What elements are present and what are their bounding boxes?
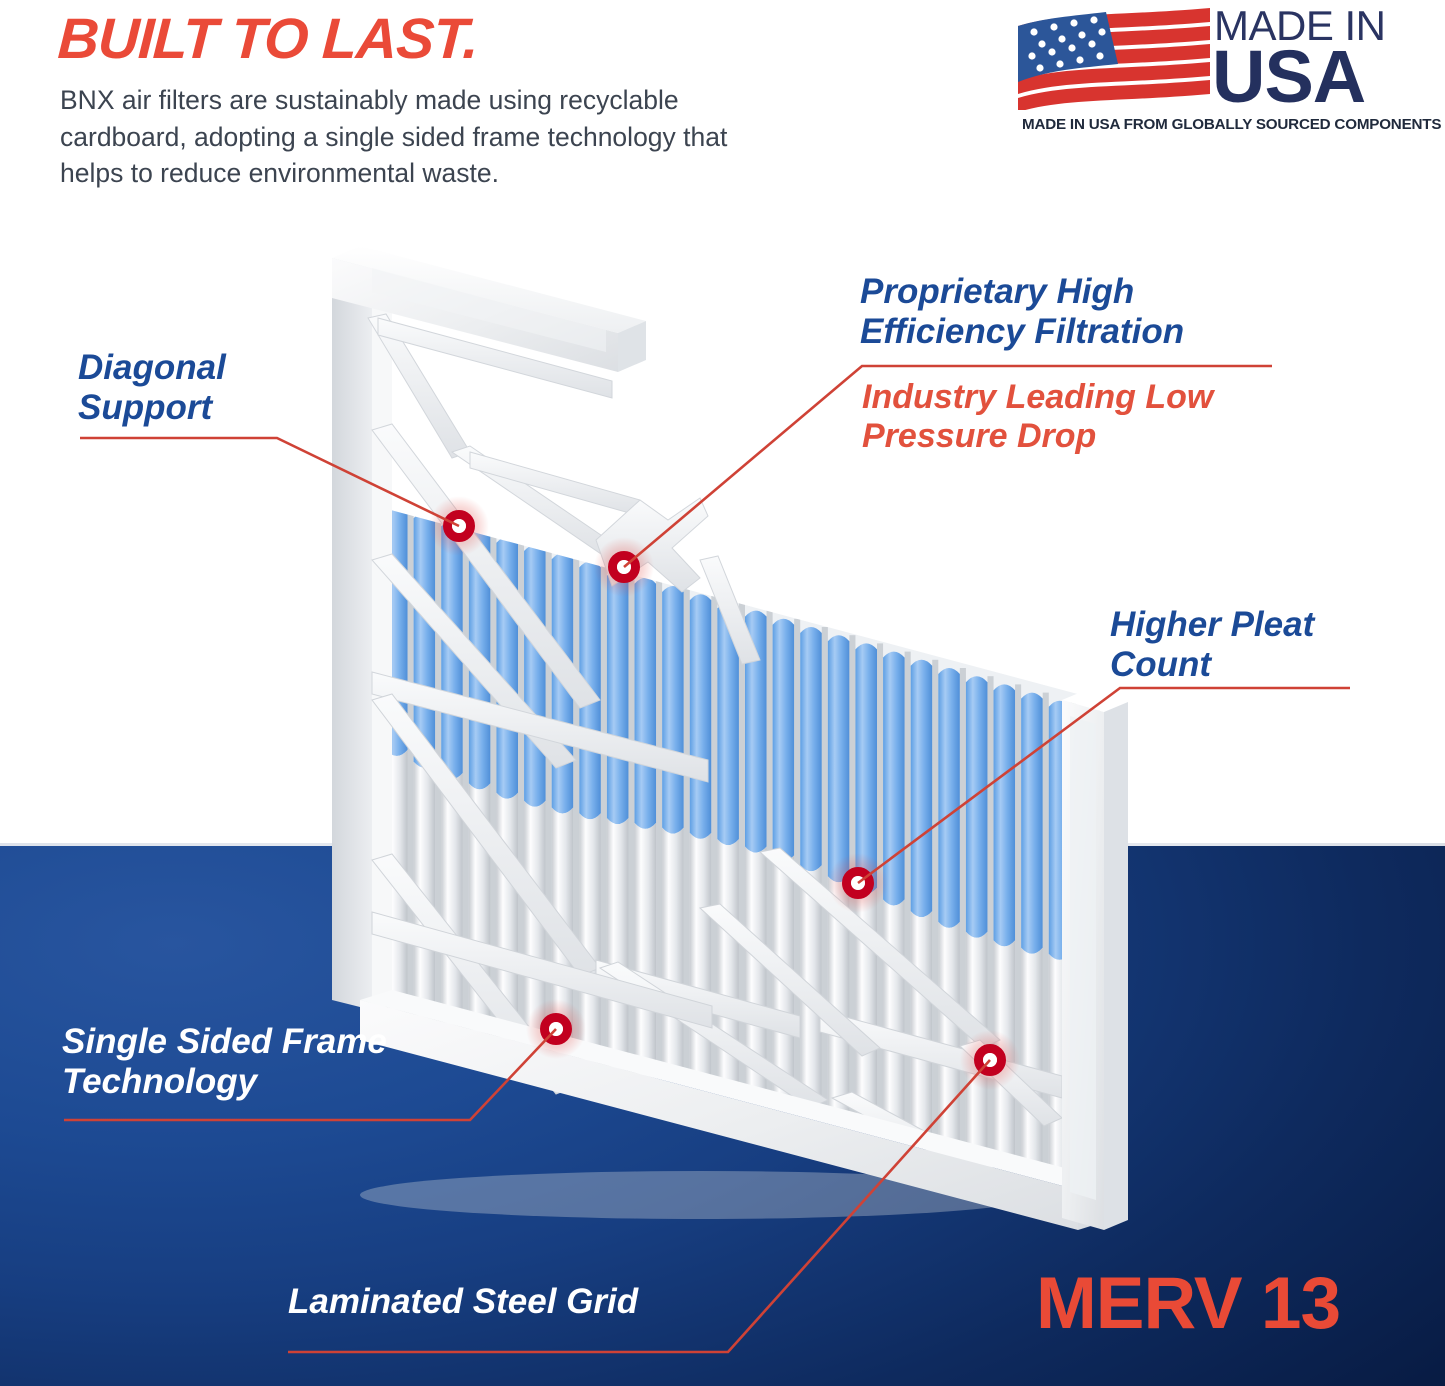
callout-diagonal-support: Diagonal Support [78, 348, 226, 428]
pleat-valley [739, 602, 745, 1104]
callout-line-2: Efficiency Filtration [860, 312, 1184, 352]
made-in-usa-badge: MADE IN USA MADE IN USA FROM GLOBALLY SO… [1014, 4, 1434, 136]
pleat-blue-tip [911, 660, 933, 917]
callout-line-1: Industry Leading Low [862, 378, 1213, 417]
pleat-white-body [607, 818, 629, 1078]
pleat-white-body [938, 922, 960, 1161]
callout-higher-pleat-count: Higher Pleat Count [1110, 605, 1314, 685]
badge-usa-text: USA [1212, 40, 1365, 114]
callout-line-1: Proprietary High [860, 272, 1184, 312]
marker-proprietary-core [617, 560, 631, 574]
pleat-blue-tip [607, 570, 629, 825]
pleat-valley [987, 676, 993, 1166]
pleat-blue-tip [1021, 693, 1043, 954]
pleat-blue-tip [662, 586, 684, 834]
badge-disclaimer: MADE IN USA FROM GLOBALLY SOURCED COMPON… [1022, 116, 1434, 133]
callout-line-2: Support [78, 388, 226, 428]
page-title: BUILT TO LAST. [56, 6, 479, 72]
marker-laminated-steel-core [983, 1053, 997, 1067]
pleat-valley [932, 660, 938, 1153]
callout-proprietary-filtration: Proprietary High Efficiency Filtration [860, 272, 1184, 352]
pleat-white-body [1021, 948, 1043, 1182]
callout-line-1: Single Sided Frame [62, 1022, 387, 1062]
pleat-white-body [690, 833, 712, 1099]
pleat-white-body [911, 911, 933, 1154]
usa-flag-icon [1014, 6, 1212, 110]
filter-frame-left-post [332, 258, 392, 1010]
callout-line-2: Count [1110, 645, 1314, 685]
pleat-valley [960, 668, 966, 1160]
pleat-blue-tip [635, 578, 657, 829]
callout-line-1: Diagonal [78, 348, 226, 388]
callout-laminated-steel-grid: Laminated Steel Grid [288, 1282, 638, 1322]
callout-single-sided-frame: Single Sided Frame Technology [62, 1022, 387, 1102]
callout-line-1: Laminated Steel Grid [288, 1282, 638, 1322]
pleat-blue-tip [883, 652, 905, 906]
marker-pleat-count-core [851, 876, 865, 890]
pleat-white-body [717, 839, 739, 1105]
pleat-blue-tip [828, 635, 850, 882]
infographic-canvas: BUILT TO LAST. BNX air filters are susta… [0, 0, 1445, 1386]
callout-line-2: Technology [62, 1062, 387, 1102]
callout-line-2: Pressure Drop [862, 417, 1213, 456]
callout-low-pressure-drop: Industry Leading Low Pressure Drop [862, 378, 1213, 456]
pleat-blue-tip [994, 684, 1016, 946]
pleat-blue-tip [800, 627, 822, 871]
pleat-valley [905, 652, 911, 1146]
pleat-white-body [635, 823, 657, 1085]
pleat-white-body [883, 900, 905, 1147]
callout-line-1: Higher Pleat [1110, 605, 1314, 645]
merv-rating-badge: MERV 13 [1036, 1262, 1340, 1345]
pleat-blue-tip [773, 619, 795, 862]
intro-paragraph: BNX air filters are sustainably made usi… [60, 82, 740, 192]
marker-single-sided-frame-core [549, 1022, 563, 1036]
filter-frame-right-channel [1062, 690, 1128, 1230]
pleat-white-body [662, 828, 684, 1092]
pleat-blue-tip [524, 545, 546, 807]
pleat-blue-tip [938, 668, 960, 928]
marker-diagonal-support-core [452, 519, 466, 533]
pleated-air-filter-cutaway [0, 0, 1445, 1386]
pleat-valley [822, 627, 828, 1125]
pleat-blue-tip [966, 676, 988, 938]
pleat-blue-tip [690, 594, 712, 839]
